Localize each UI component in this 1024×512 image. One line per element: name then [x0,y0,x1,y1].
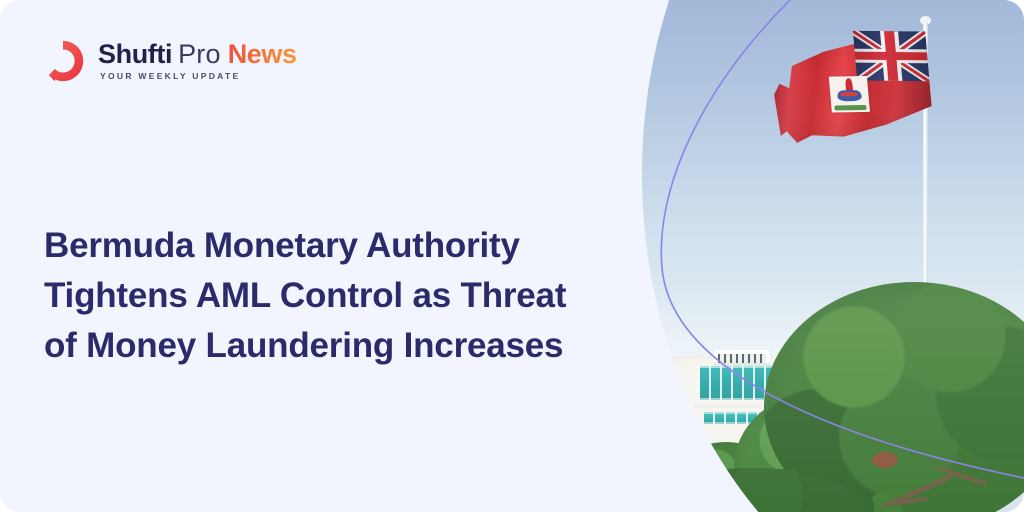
bermuda-coat-of-arms-icon [829,76,870,113]
canton-background [853,31,930,81]
logo-tagline: YOUR WEEKLY UPDATE [100,71,297,81]
news-banner: Shufti Pro News YOUR WEEKLY UPDATE Bermu… [0,0,1024,512]
logo-wordmark: Shufti Pro News YOUR WEEKLY UPDATE [98,41,297,81]
red-foliage [872,452,898,468]
headline-line-1: Bermuda Monetary Authority [44,221,644,271]
building-left [604,380,682,512]
union-jack-canton-icon [853,31,930,81]
arms-shield [837,90,862,101]
building-chimney [646,362,660,376]
bermuda-flag [770,31,934,148]
logo-words: Shufti Pro News [98,41,297,68]
cross-white-horizontal [854,49,928,64]
page-title: Bermuda Monetary Authority Tightens AML … [44,221,644,370]
logo-word-shufti: Shufti [98,41,172,68]
saltire-white-2 [853,31,929,81]
shufti-pro-news-logo[interactable]: Shufti Pro News YOUR WEEKLY UPDATE [40,38,297,84]
saltire-red-1 [853,31,930,81]
red-awning [614,498,658,512]
cross-white-vertical [880,31,902,81]
rooftop-penthouse [714,350,770,366]
building-roof-cap [614,372,658,394]
cross-red-horizontal [855,52,928,60]
blue-painted-wall [612,454,666,506]
headline-line-2: Tightens AML Control as Threat [44,271,644,321]
cross-red-vertical [884,31,898,81]
headline-line-3: of Money Laundering Increases [44,321,644,371]
logo-word-news: News [228,41,297,68]
arms-base [834,105,866,111]
logo-word-pro: Pro [178,41,221,68]
building-left-secondary [630,416,690,512]
red-foliage [696,496,718,510]
saltire-red-2 [854,31,927,81]
shufti-ring-icon [40,38,86,84]
red-foliage [734,502,752,512]
saltire-white-1 [853,31,930,81]
